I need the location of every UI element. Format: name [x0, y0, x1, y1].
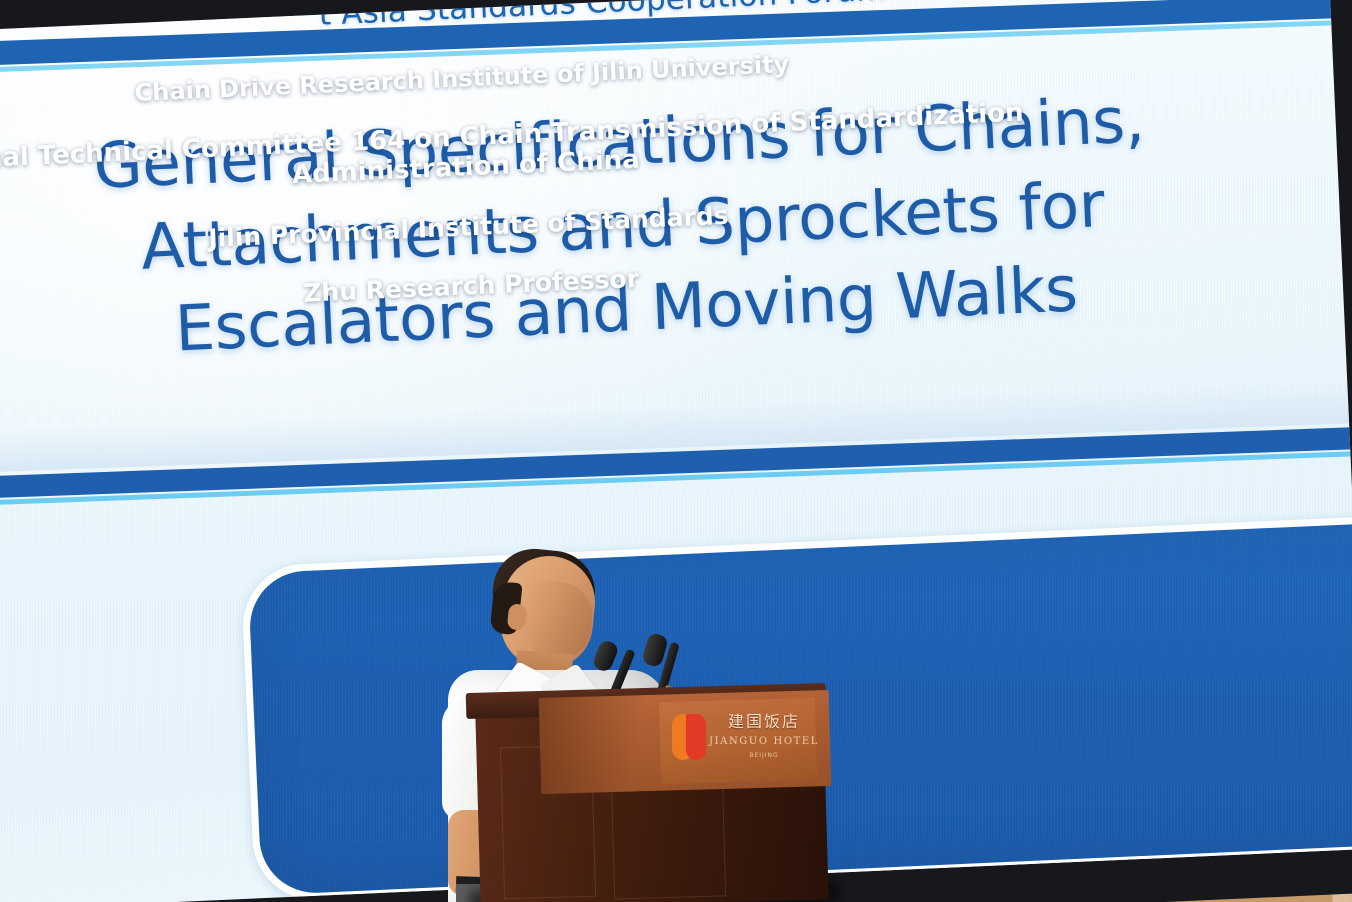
- plaque-english-name: JIANGUO HOTEL: [706, 736, 822, 747]
- info-line-committee: National Technical Committee 164 on Chai…: [0, 97, 1049, 209]
- plaque-chinese-name: 建国饭店: [714, 708, 814, 732]
- jianguo-leaf-logo-icon: [672, 714, 706, 760]
- conference-photo-scene: t Asia Standards Cooperation Forum Gener…: [0, 0, 1352, 902]
- leaf-right-half: [686, 714, 706, 760]
- plaque-sub-name: BEIJING: [706, 752, 822, 759]
